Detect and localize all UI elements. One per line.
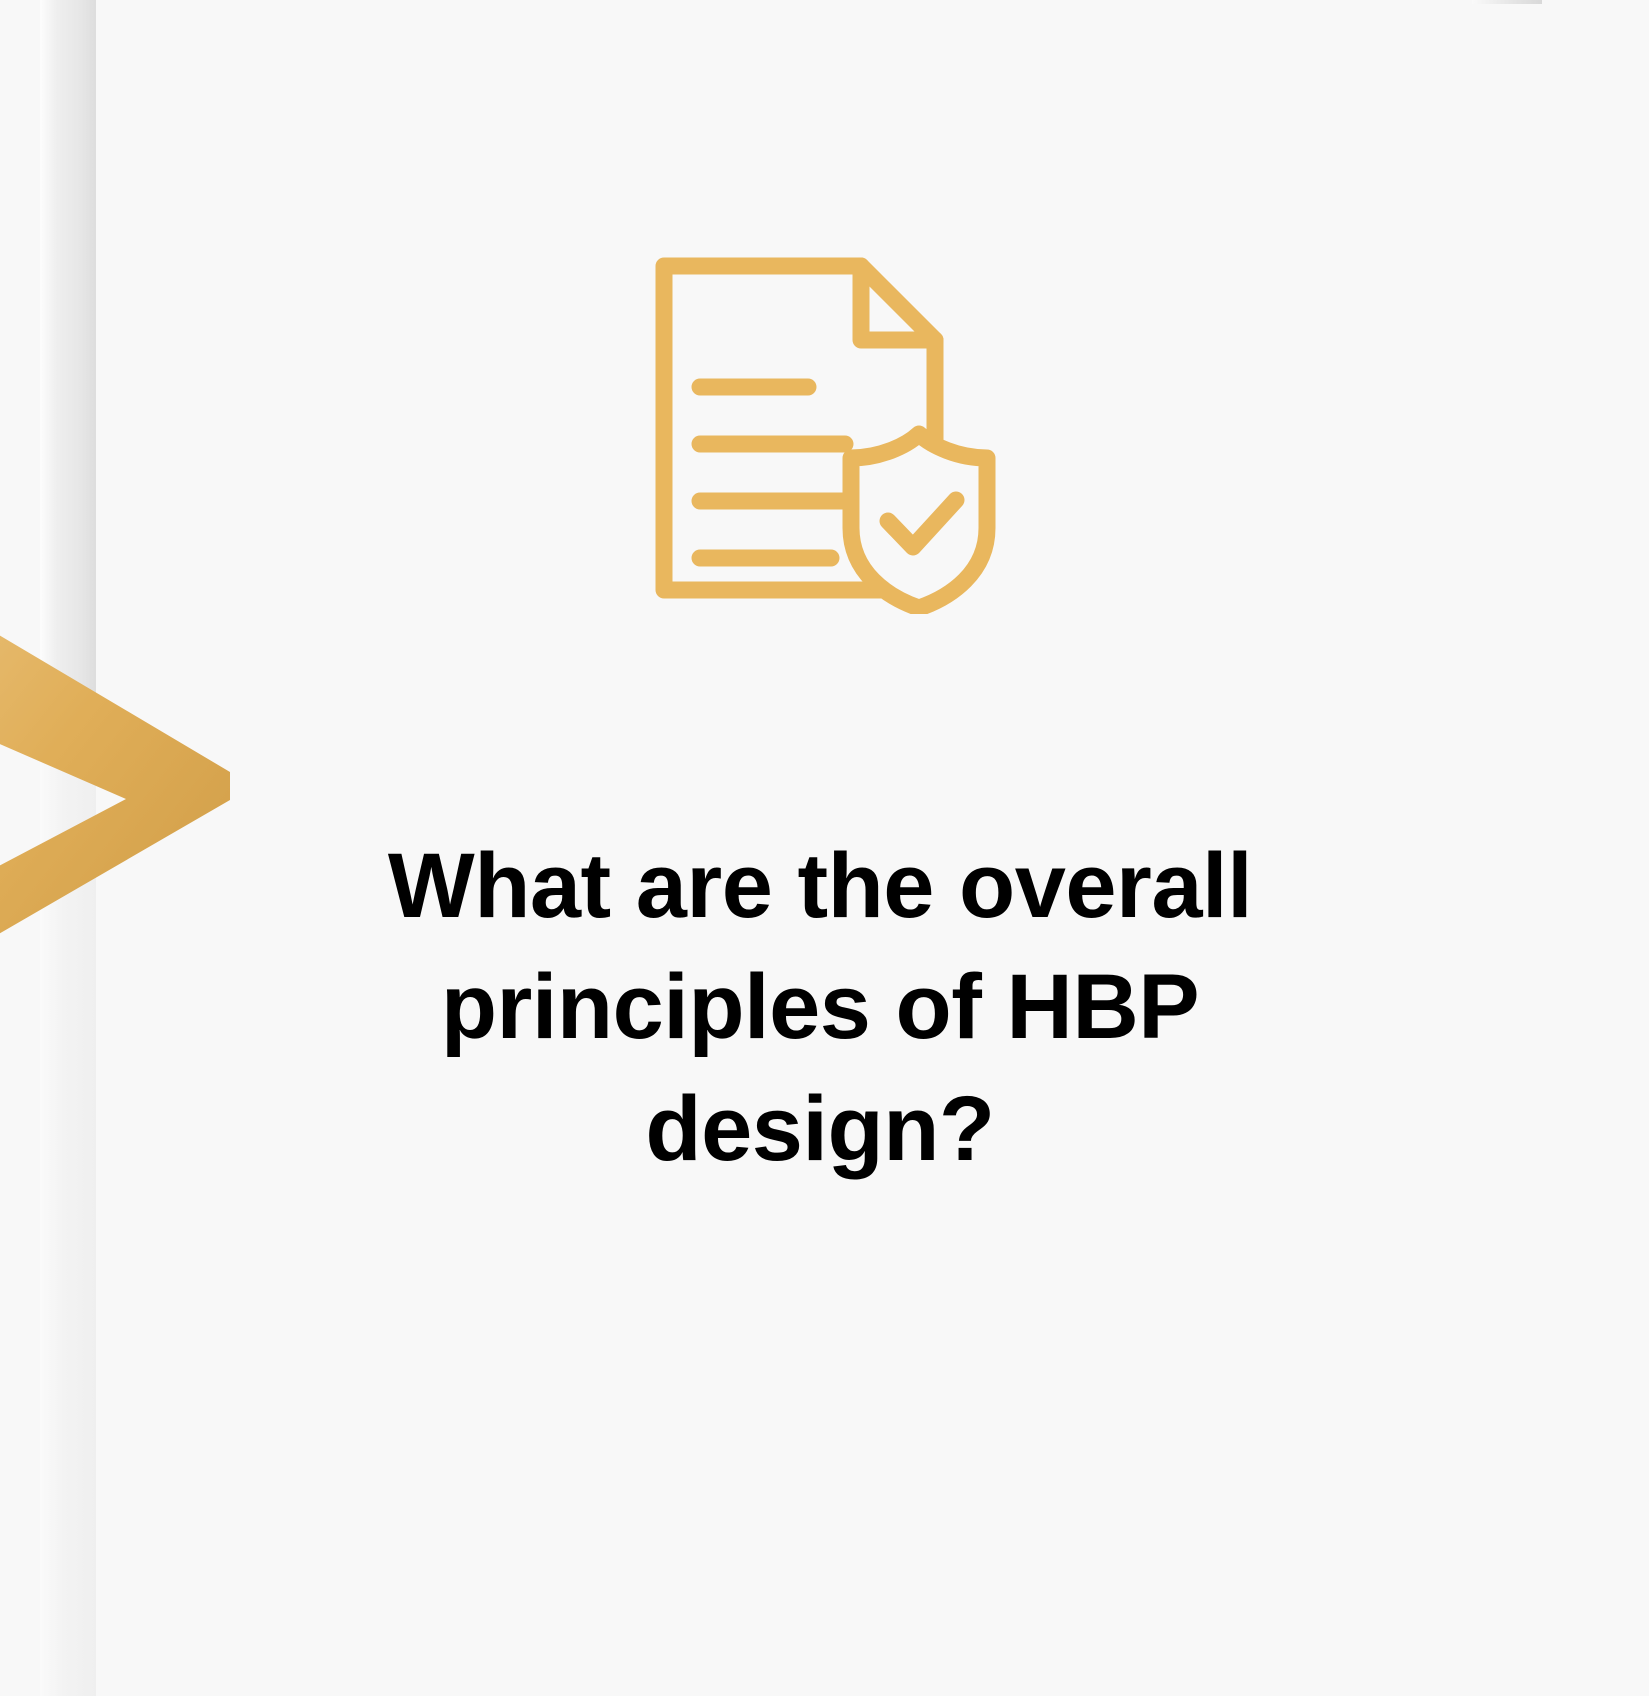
page-title: What are the overall principles of HBP d…	[330, 826, 1310, 1190]
page-edge-highlight-left	[40, 0, 96, 704]
page-edge-highlight-top-right	[1472, 0, 1542, 4]
page-edge-highlight-left-lower	[40, 704, 96, 1696]
chevron-right-accent	[0, 600, 230, 968]
document-shield-icon	[648, 242, 1008, 614]
slide-canvas: What are the overall principles of HBP d…	[0, 0, 1649, 1696]
